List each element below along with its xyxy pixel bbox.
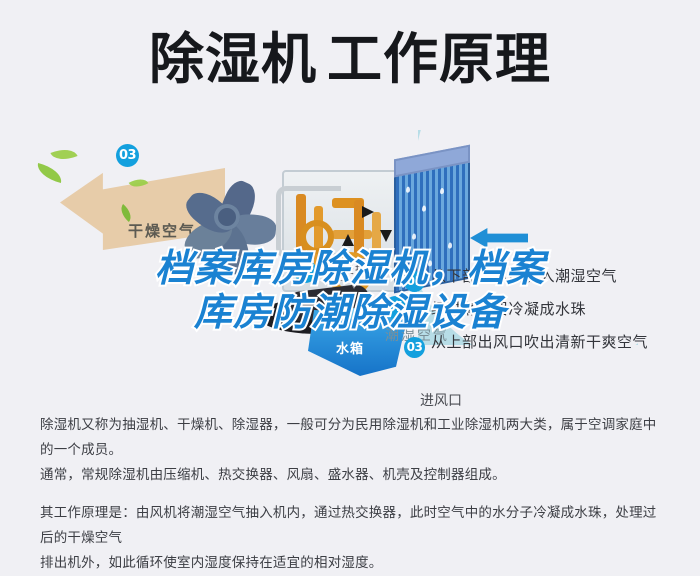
flow-arrow-right-icon bbox=[362, 206, 374, 218]
fan-hub-icon bbox=[214, 204, 240, 230]
page-title: 除湿机工作原理 bbox=[0, 28, 700, 90]
step-line-03: 03从上部出风口吹出清新干爽空气 bbox=[404, 331, 648, 358]
step-text-01: 从下部进风口吸入潮湿空气 bbox=[431, 267, 617, 285]
heat-exchanger-callout: 热交换器 bbox=[322, 258, 388, 281]
leaf-icon bbox=[35, 163, 65, 183]
compressor-coil-icon bbox=[300, 220, 334, 254]
water-tank-label: 水箱 bbox=[336, 338, 364, 357]
badge-03: 03 bbox=[116, 144, 139, 167]
flow-arrow-down-icon bbox=[380, 230, 392, 242]
air-inlet-label: 进风口 bbox=[420, 390, 462, 410]
body-copy: 除湿机又称为抽湿机、干燥机、除湿器，一般可分为民用除湿机和工业除湿机两大类，属于… bbox=[40, 413, 662, 576]
dehumidifier-diagram: 干燥空气 bbox=[0, 120, 700, 405]
step-line-01: 01从下部进风口吸入潮湿空气 bbox=[404, 265, 617, 292]
step-line-02: 02经过蒸发器冷凝成水珠 bbox=[404, 298, 586, 325]
step-text-02: 经过蒸发器冷凝成水珠 bbox=[431, 300, 586, 318]
paragraph-1-line-1: 除湿机又称为抽湿机、干燥机、除湿器，一般可分为民用除湿机和工业除湿机两大类，属于… bbox=[40, 413, 662, 463]
paragraph-2-line-1: 其工作原理是：由风机将潮湿空气抽入机内，通过热交换器，此时空气中的水分子冷凝成水… bbox=[40, 501, 662, 551]
title-part-b: 工作原理 bbox=[327, 28, 551, 90]
title-part-a: 除湿机 bbox=[149, 28, 317, 90]
infographic-page: 除湿机工作原理 干燥空气 bbox=[0, 0, 700, 566]
badge-02: 02 bbox=[294, 260, 317, 283]
paragraph-2-line-2: 排出机外，如此循环使室内湿度保持在适宜的相对湿度。 bbox=[40, 551, 662, 576]
step-badge-02: 02 bbox=[404, 304, 425, 325]
step-badge-01: 01 bbox=[404, 271, 425, 292]
step-text-03: 从上部出风口吹出清新干爽空气 bbox=[431, 333, 648, 351]
paragraph-1-line-2: 通常，常规除湿机由压缩机、热交换器、风扇、盛水器、机壳及控制器组成。 bbox=[40, 463, 662, 488]
fan-icon bbox=[178, 168, 286, 272]
leaf-icon bbox=[50, 144, 77, 165]
flow-arrow-up-icon bbox=[342, 234, 354, 246]
step-badge-03: 03 bbox=[404, 337, 425, 358]
